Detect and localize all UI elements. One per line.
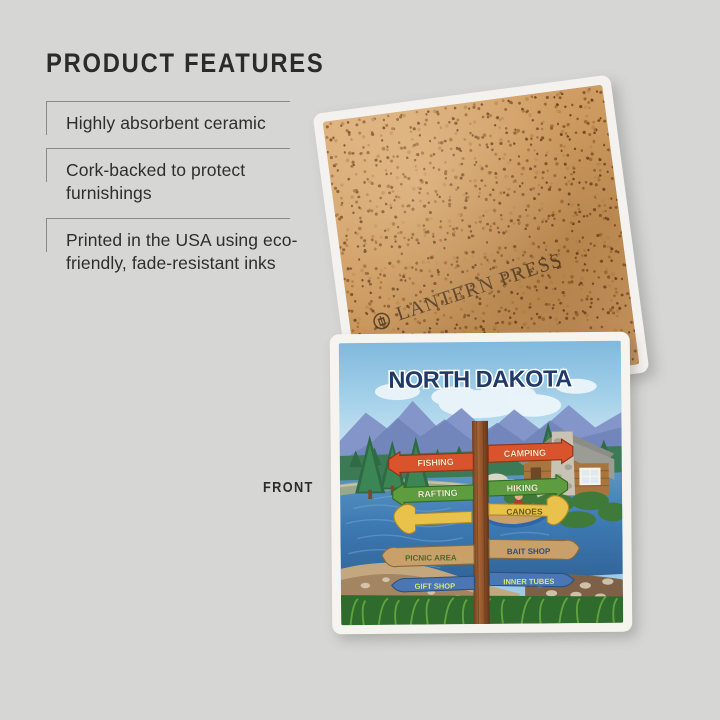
sign-label: FISHING [417,457,454,469]
divider [46,101,290,102]
feature-item: Cork-backed to protect furnishings [46,148,326,218]
label-front: FRONT [263,479,314,496]
brand-logo: LANTERN PRESS [370,249,566,334]
feature-item: Printed in the USA using eco-friendly, f… [46,218,326,288]
feature-text: Cork-backed to protect furnishings [66,159,326,205]
signpost [472,421,490,624]
sign-label: BAIT SHOP [507,547,551,556]
page-title: PRODUCT FEATURES [46,48,292,79]
divider [46,218,47,252]
sign-gift-shop: GIFT SHOP [392,576,475,592]
brand-name: LANTERN PRESS [394,249,566,326]
divider [46,101,47,135]
sign-label: INNER TUBES [503,577,554,586]
feature-item: Highly absorbent ceramic [46,101,326,148]
feature-text: Highly absorbent ceramic [66,112,326,135]
artwork-title: NORTH DAKOTA [388,365,572,393]
sign-label: GIFT SHOP [415,582,456,591]
sign-label: CAMPING [504,448,546,459]
sign-label: CANOES [506,506,543,516]
sign-bait-shop: BAIT SHOP [489,539,579,561]
sign-inner-tubes: INNER TUBES [489,571,574,587]
artwork-surface: FISHING CAMPING RAFTING HIKING [339,341,623,625]
sign-label: RAFTING [418,488,458,500]
lantern-icon [370,309,392,332]
coaster-front-image: FISHING CAMPING RAFTING HIKING [330,332,633,635]
divider [46,218,290,219]
divider [46,148,47,182]
sign-label: PICNIC AREA [405,553,457,562]
north-dakota-illustration: FISHING CAMPING RAFTING HIKING [339,341,623,625]
product-features-panel: PRODUCT FEATURES Highly absorbent cerami… [46,48,326,288]
feature-text: Printed in the USA using eco-friendly, f… [66,229,326,275]
sign-picnic-area: PICNIC AREA [382,545,474,567]
sign-label: HIKING [507,483,539,494]
divider [46,148,290,149]
